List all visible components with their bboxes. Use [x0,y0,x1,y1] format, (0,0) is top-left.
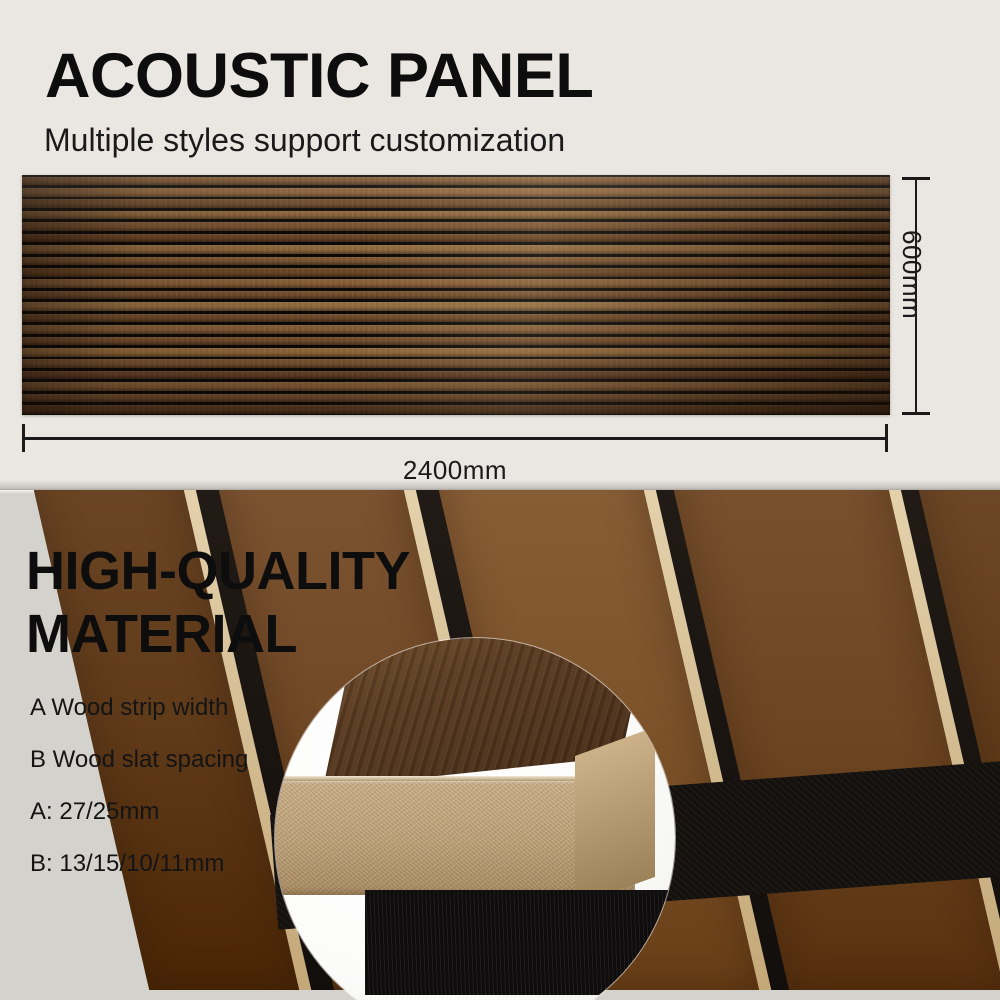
spec-item: A: 27/25mm [30,798,248,826]
height-dimension-label: 600mm [896,230,927,319]
top-section: ACOUSTIC PANEL Multiple styles support c… [0,0,1000,490]
felt-layer-detail [365,890,675,995]
panel-slat [22,371,890,380]
panel-slat [22,359,890,368]
panel-slat [22,199,890,208]
panel-slat [22,268,890,277]
page-subtitle: Multiple styles support customization [44,122,565,159]
panel-slat [22,291,890,300]
dimension-cap-right [885,424,888,452]
bottom-section: A B HIGH-QUALITY MATERIAL A Wood strip w… [0,490,1000,1000]
spec-item: B Wood slat spacing [30,746,248,774]
panel-slat [22,222,890,231]
panel-slat [22,348,890,357]
panel-slat [22,211,890,220]
dimension-cap-top [902,177,930,180]
section-title-line2: MATERIAL [26,604,297,664]
width-dimension-label: 2400mm [0,455,910,486]
section-title-line1: HIGH-QUALITY [26,541,410,601]
panel-slat [22,177,890,186]
page-title: ACOUSTIC PANEL [45,44,593,110]
panel-slat [22,394,890,403]
panel-slat [22,188,890,197]
panel-slat [22,325,890,334]
acoustic-panel-front-view [22,175,890,415]
spec-item: A Wood strip width [30,694,248,722]
panel-slat [22,314,890,323]
panel-slat [22,382,890,391]
spec-item: B: 13/15/10/11mm [30,850,248,878]
panel-slat [22,257,890,266]
spec-list: A Wood strip width B Wood slat spacing A… [30,694,248,902]
panel-slat [22,234,890,243]
dimension-cap-left [22,424,25,452]
width-dimension-line [22,437,888,440]
panel-slat [22,337,890,346]
panel-slat [22,279,890,288]
panel-slat [22,405,890,414]
panel-slat [22,302,890,311]
panel-slat [22,245,890,254]
section-title: HIGH-QUALITY MATERIAL [26,540,410,666]
mdf-core-side-face [575,727,655,906]
product-infographic: ACOUSTIC PANEL Multiple styles support c… [0,0,1000,1000]
dimension-cap-bottom [902,412,930,415]
